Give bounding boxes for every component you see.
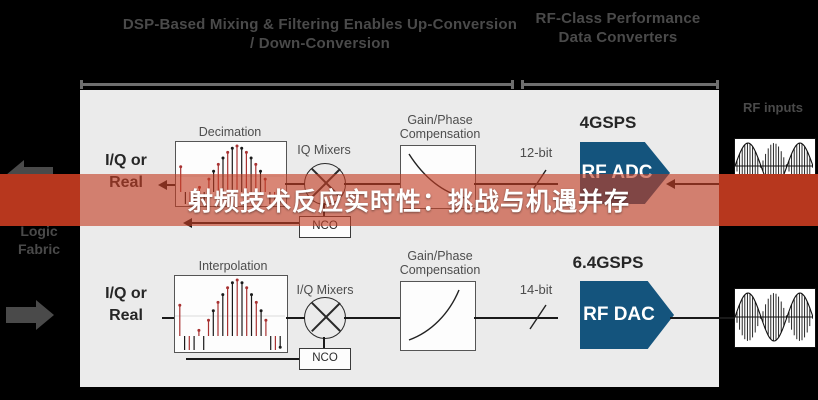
rx-mixer-label: IQ Mixers [283, 143, 365, 157]
bracket-right-bar [521, 83, 719, 86]
tx-bus-slash-icon [528, 303, 550, 331]
rx-comp-label: Gain/Phase Compensation [392, 113, 488, 142]
header-rf-class-performance: RF-Class Performance Data Converters [518, 10, 718, 48]
rx-rate-label: 4GSPS [556, 112, 660, 135]
tx-mixer-label: I/Q Mixers [283, 283, 367, 297]
header-dsp-mixing-filtering: DSP-Based Mixing & Filtering Enables Up-… [120, 16, 520, 54]
tx-nco-block: NCO [299, 348, 351, 370]
tx-mixer-out-wire [344, 317, 400, 319]
screenshot-root: DSP-Based Mixing & Filtering Enables Up-… [0, 0, 818, 400]
tx-io-label: I/Q or Real [96, 283, 156, 326]
interpolation-stem-plot [175, 276, 285, 350]
rf-output-waveform-icon [735, 289, 813, 345]
tx-rate-label: 6.4GSPS [548, 252, 668, 275]
rf-dac-label: RF DAC [583, 304, 671, 325]
tx-comp-curve-icon [401, 282, 473, 348]
rx-filter-label: Decimation [180, 125, 280, 139]
tx-comp-label: Gain/Phase Compensation [392, 249, 488, 278]
logic-fabric-label: Logic Fabric [2, 222, 76, 258]
overlay-banner: 射频技术反应实时性：挑战与机遇并存 [0, 174, 818, 226]
bracket-left [80, 80, 514, 89]
tx-filter-label: Interpolation [180, 259, 286, 273]
overlay-banner-text: 射频技术反应实时性：挑战与机遇并存 [188, 182, 630, 218]
tx-mixer-in-wire [286, 317, 305, 319]
bracket-left-bar [80, 83, 514, 86]
rx-bits-label: 12-bit [508, 146, 564, 161]
tx-bits-label: 14-bit [508, 283, 564, 298]
arrow-out-of-fabric-icon [6, 300, 54, 330]
bracket-right [521, 80, 719, 89]
tx-rf-output-wire [670, 317, 734, 319]
rf-inputs-label: RF inputs [736, 100, 810, 116]
bracket-right-cap-end [716, 80, 719, 89]
tx-mixer-icon [304, 297, 346, 339]
bracket-left-cap-end [511, 80, 514, 89]
